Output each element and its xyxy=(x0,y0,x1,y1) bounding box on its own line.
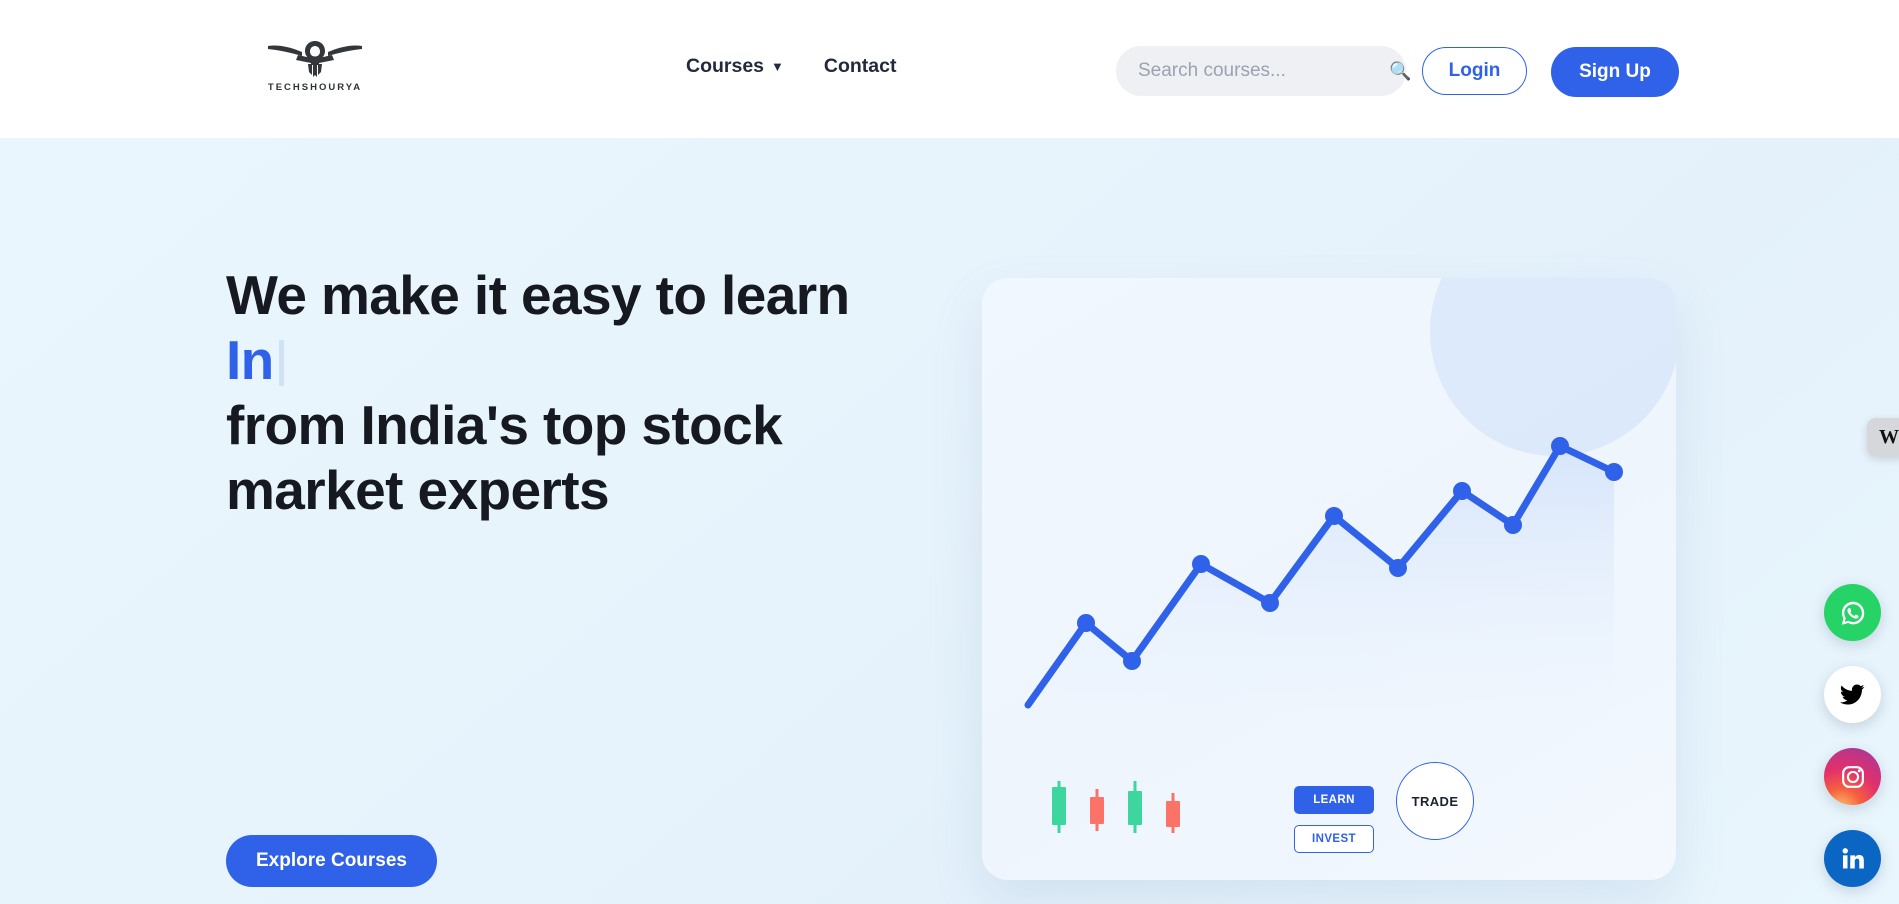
widget-launcher-label: W xyxy=(1879,427,1899,447)
hero-section: We make it easy to learn In from India's… xyxy=(0,138,1899,904)
login-button[interactable]: Login xyxy=(1422,47,1527,95)
candlestick-bullish-1 xyxy=(1052,781,1066,833)
instagram-icon[interactable] xyxy=(1824,748,1881,805)
linkedin-icon[interactable] xyxy=(1824,830,1881,887)
social-rail xyxy=(1824,584,1881,887)
twitter-glyph xyxy=(1838,680,1867,709)
instagram-glyph xyxy=(1838,762,1868,792)
nav-item-contact[interactable]: Contact xyxy=(824,55,897,78)
search-input[interactable] xyxy=(1138,60,1383,82)
twitter-icon[interactable] xyxy=(1824,666,1881,723)
hero-heading-typed: In xyxy=(226,329,274,391)
invest-tag-button[interactable]: INVEST xyxy=(1294,825,1374,853)
trade-tag-badge[interactable]: TRADE xyxy=(1396,762,1474,840)
candlestick-bearish-1 xyxy=(1090,781,1104,833)
explore-courses-button[interactable]: Explore Courses xyxy=(226,835,437,887)
typing-cursor xyxy=(279,340,284,386)
whatsapp-glyph xyxy=(1838,598,1868,628)
brand-name: TECHSHOURYA xyxy=(268,82,362,93)
linkedin-glyph xyxy=(1838,844,1867,873)
hero-heading-line1: We make it easy to learn xyxy=(226,264,850,326)
search-icon[interactable]: 🔍 xyxy=(1389,62,1411,80)
whatsapp-icon[interactable] xyxy=(1824,584,1881,641)
page-title: We make it easy to learn In from India's… xyxy=(226,263,906,523)
candlestick-group xyxy=(1052,781,1180,833)
brand-logo[interactable]: TECHSHOURYA xyxy=(265,36,365,93)
bull-longhorn-icon xyxy=(265,36,365,78)
hero-heading-line3: from India's top stock market experts xyxy=(226,394,782,521)
primary-nav: Courses ▼ Contact xyxy=(686,55,897,78)
nav-item-courses[interactable]: Courses ▼ xyxy=(686,55,784,78)
site-header: TECHSHOURYA Courses ▼ Contact 🔍 Login Si… xyxy=(0,0,1899,138)
candlestick-bearish-2 xyxy=(1166,781,1180,833)
search-box[interactable]: 🔍 xyxy=(1116,46,1406,96)
chart-area-fill xyxy=(1028,446,1614,708)
hero-illustration-card: LEARN INVEST TRADE xyxy=(982,278,1676,880)
signup-button[interactable]: Sign Up xyxy=(1551,47,1679,97)
learn-tag-button[interactable]: LEARN xyxy=(1294,786,1374,814)
candlestick-bullish-2 xyxy=(1128,781,1142,833)
chevron-down-icon: ▼ xyxy=(771,60,784,73)
widget-launcher-tab[interactable]: W xyxy=(1867,418,1899,456)
nav-item-courses-label: Courses xyxy=(686,55,764,78)
nav-item-contact-label: Contact xyxy=(824,55,897,78)
